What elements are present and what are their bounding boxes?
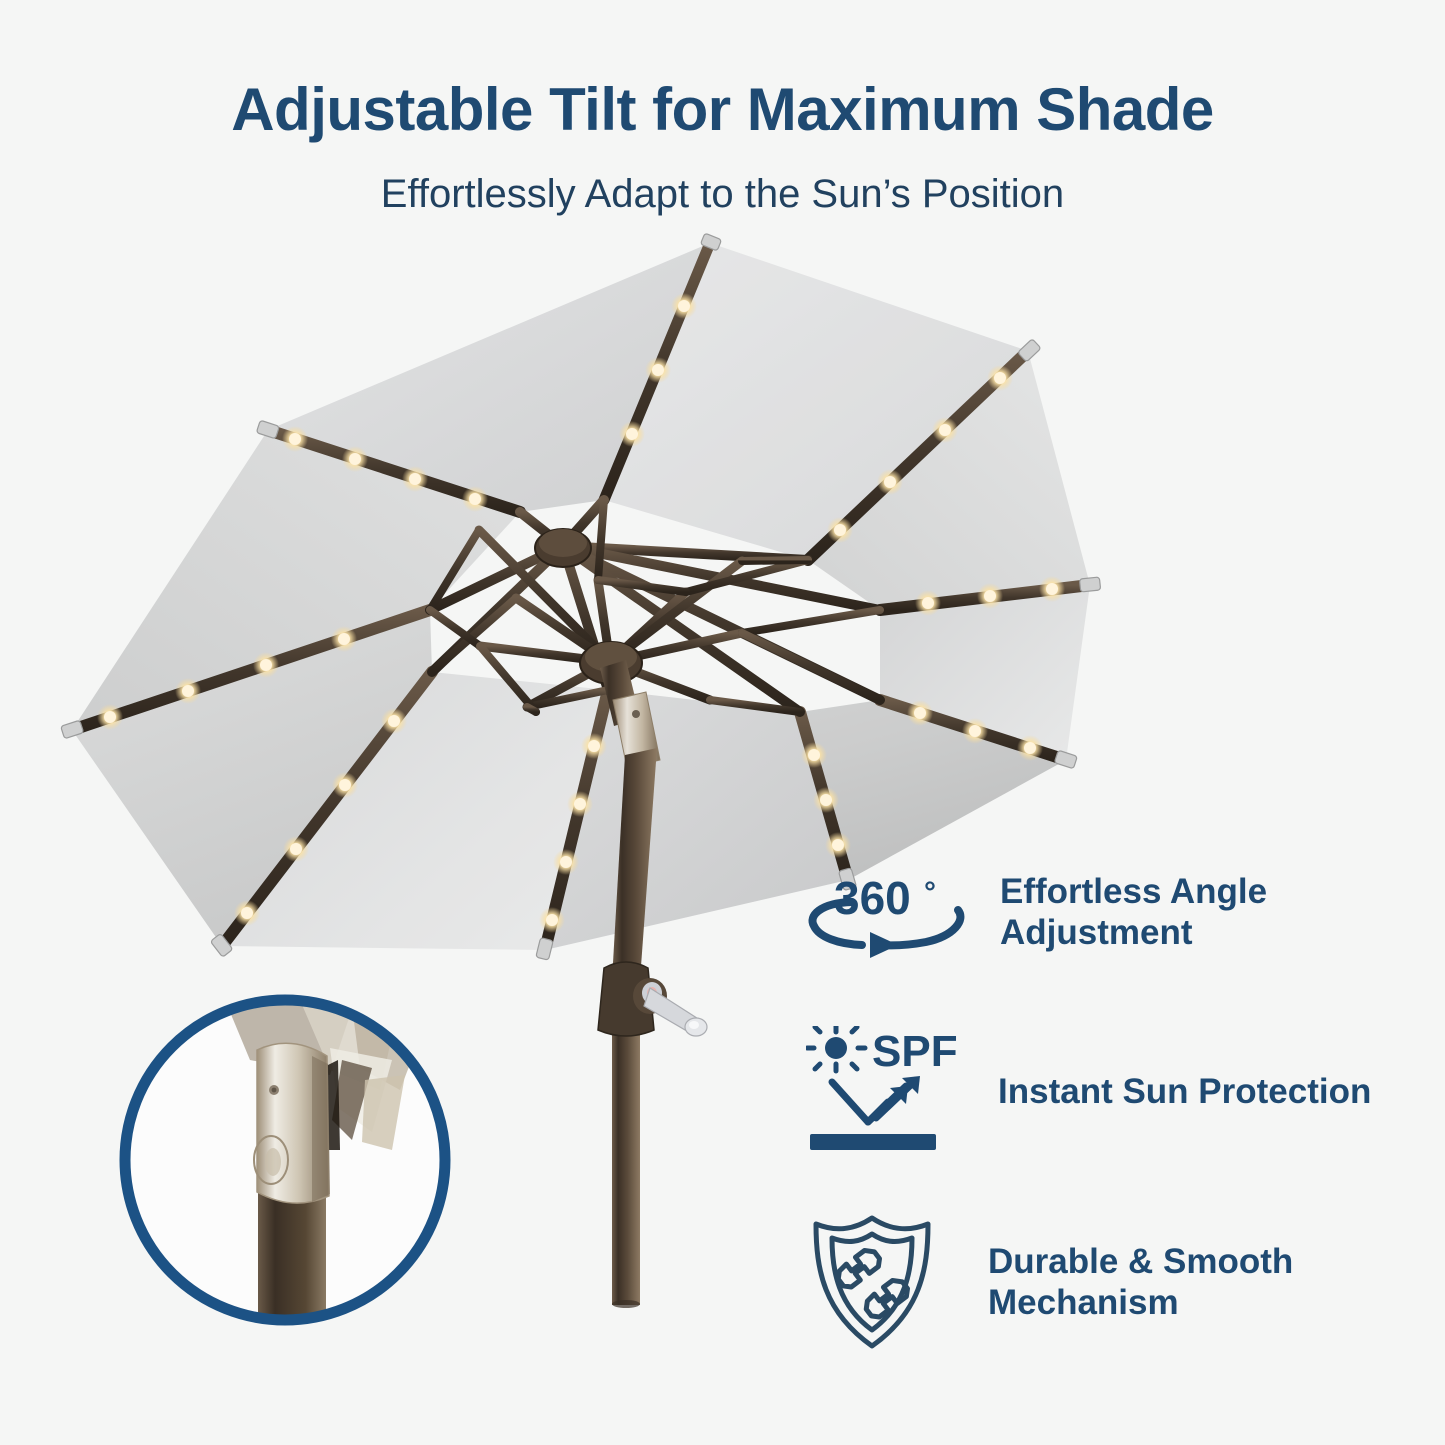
page-subtitle: Effortlessly Adapt to the Sun’s Position	[0, 172, 1445, 216]
feature-item-durability: Durable & Smooth Mechanism	[806, 1212, 1293, 1352]
umbrella-upper-hub	[535, 529, 591, 567]
svg-text:SPF: SPF	[872, 1027, 958, 1076]
tilt-mechanism-inset	[125, 1000, 445, 1340]
led-lights	[97, 293, 1065, 933]
umbrella-support-struts	[430, 500, 880, 712]
feature-label-sun-protection: Instant Sun Protection	[998, 1071, 1371, 1112]
feature-item-sun-protection: SPF Instant Sun Protection	[806, 1026, 1371, 1158]
crank-handle	[598, 962, 707, 1036]
spf-sun-protection-icon: SPF	[806, 1026, 958, 1158]
shield-wrench-durability-icon	[806, 1212, 938, 1352]
infographic-canvas: Adjustable Tilt for Maximum Shade Effort…	[0, 0, 1445, 1445]
umbrella-ribs-and-leds	[61, 233, 1101, 960]
umbrella-strut-triangles	[430, 500, 880, 712]
umbrella-runner-hub	[580, 642, 642, 684]
svg-text:°: °	[924, 876, 936, 909]
page-title: Adjustable Tilt for Maximum Shade	[0, 78, 1445, 141]
feature-label-angle-adjustment: Effortless Angle Adjustment	[1000, 871, 1267, 954]
feature-item-angle-adjustment: 360 ° Effortless Angle Adjustment	[806, 866, 1267, 958]
360-degree-rotation-icon: 360 °	[806, 866, 966, 958]
umbrella-hub-struts	[479, 530, 742, 707]
umbrella-canopy	[72, 243, 1090, 950]
umbrella-pole	[600, 660, 660, 1308]
360-icon-number: 360	[834, 872, 911, 924]
feature-label-durability: Durable & Smooth Mechanism	[988, 1241, 1293, 1324]
